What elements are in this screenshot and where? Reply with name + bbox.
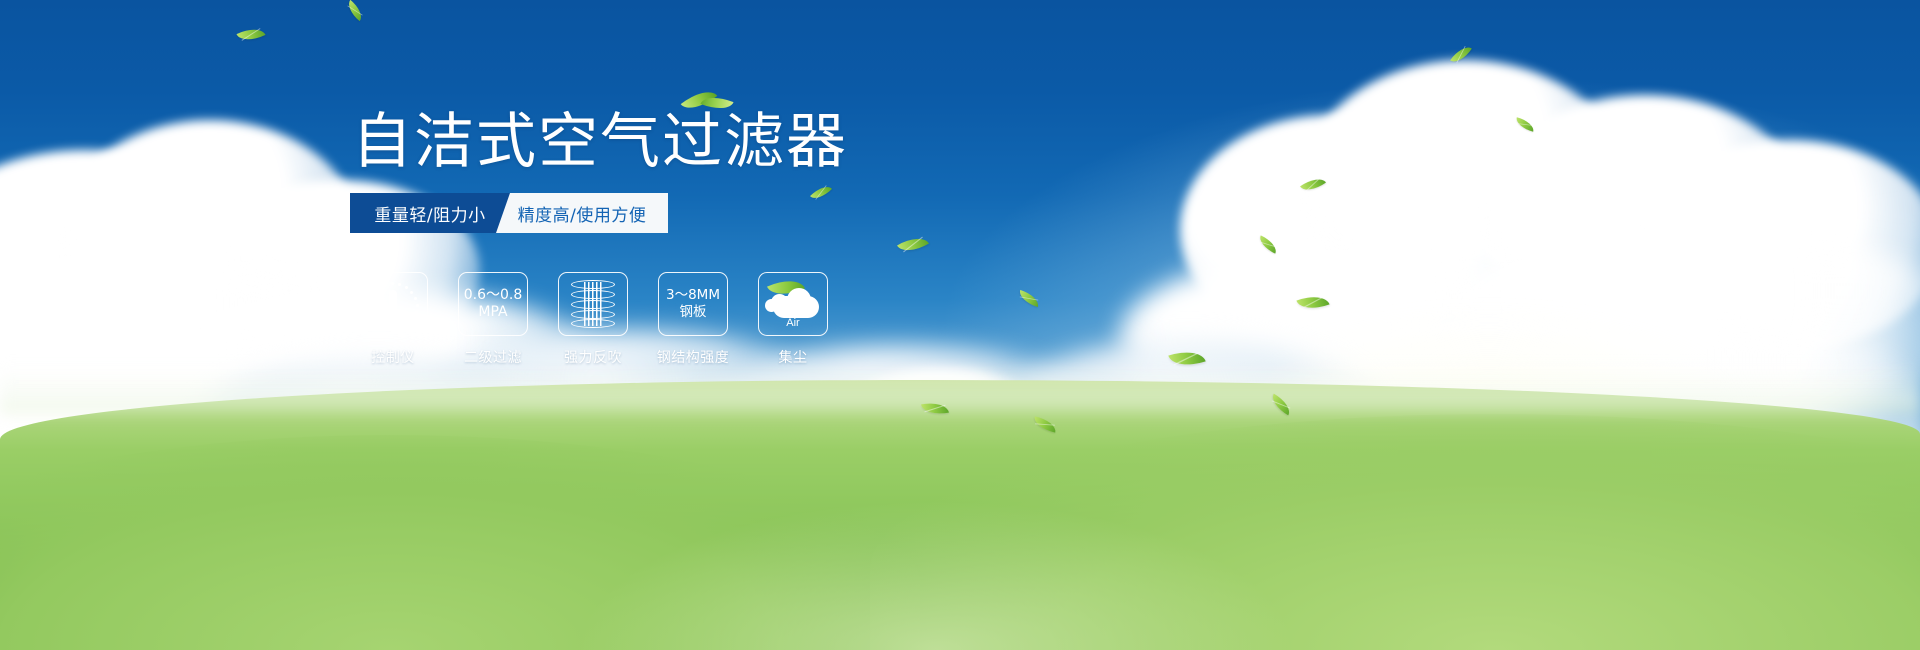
gauge-icon: NO OFF bbox=[367, 281, 419, 327]
tab-weight-resistance[interactable]: 重量轻/阻力小 bbox=[350, 193, 510, 233]
feature-badge-steel: 3～8MM 钢板 bbox=[658, 272, 728, 336]
gauge-off-label: OFF bbox=[407, 320, 420, 326]
feature-icon-row: NO OFF 控制仪 0.6～0.8 MPA 二级过滤 bbox=[358, 272, 828, 367]
feature-badge-controller: NO OFF bbox=[358, 272, 428, 336]
pressure-value: 0.6～0.8 bbox=[464, 287, 523, 304]
plate-thickness: 3～8MM bbox=[666, 287, 720, 304]
feature-caption-controller: 控制仪 bbox=[371, 347, 415, 367]
feature-item-dust-collection[interactable]: Air 集尘 bbox=[758, 272, 828, 367]
plate-material: 钢板 bbox=[666, 304, 720, 321]
feature-badge-dust: Air bbox=[758, 272, 828, 336]
banner-content: 自洁式空气过滤器 重量轻/阻力小 精度高/使用方便 bbox=[0, 0, 1920, 650]
feature-item-secondary-filter[interactable]: 0.6～0.8 MPA 二级过滤 bbox=[458, 272, 528, 367]
feature-item-blowback[interactable]: 强力反吹 bbox=[558, 272, 628, 367]
pressure-unit: MPA bbox=[464, 304, 523, 321]
feature-caption-dust-collection: 集尘 bbox=[779, 347, 808, 367]
air-label: Air bbox=[765, 317, 821, 329]
feature-item-controller[interactable]: NO OFF 控制仪 bbox=[358, 272, 428, 367]
feature-item-steel-strength[interactable]: 3～8MM 钢板 钢结构强度 bbox=[658, 272, 728, 367]
feature-caption-steel-strength: 钢结构强度 bbox=[657, 347, 730, 367]
feature-badge-blowback bbox=[558, 272, 628, 336]
page-title: 自洁式空气过滤器 bbox=[352, 112, 848, 172]
banner-stage: 自洁式空气过滤器 重量轻/阻力小 精度高/使用方便 bbox=[0, 0, 1920, 650]
feature-caption-blowback: 强力反吹 bbox=[564, 347, 622, 367]
coil-icon bbox=[571, 280, 615, 328]
plate-text-icon: 3～8MM 钢板 bbox=[666, 287, 720, 321]
tab-precision-convenience[interactable]: 精度高/使用方便 bbox=[496, 193, 668, 233]
pressure-text-icon: 0.6～0.8 MPA bbox=[464, 287, 523, 321]
air-cloud-icon: Air bbox=[765, 281, 821, 327]
gauge-on-label: NO bbox=[366, 304, 376, 310]
tab-group: 重量轻/阻力小 精度高/使用方便 bbox=[350, 193, 668, 233]
feature-caption-secondary-filter: 二级过滤 bbox=[464, 347, 522, 367]
feature-badge-pressure: 0.6～0.8 MPA bbox=[458, 272, 528, 336]
